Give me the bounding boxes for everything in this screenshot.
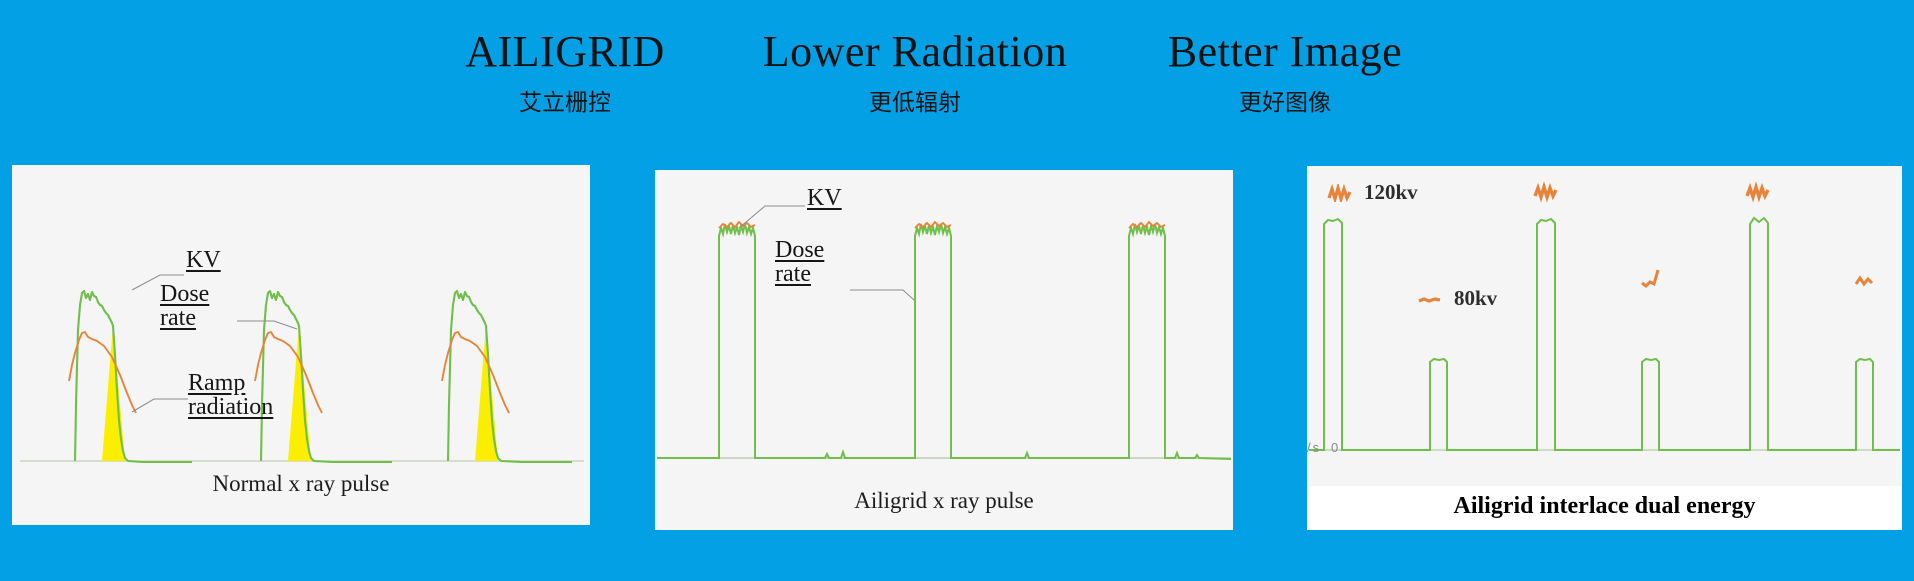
kv-curve-3 — [442, 332, 509, 413]
kv-waveform-icon — [1327, 184, 1353, 202]
headline-en-1: Lower Radiation — [740, 26, 1090, 78]
pulse-120kv-1 — [1309, 219, 1427, 450]
dose-rate-leader-line — [850, 290, 914, 300]
kv-line-icon — [1417, 292, 1443, 306]
headline-en-2: Better Image — [1110, 26, 1460, 78]
pulse-80kv-1 — [1427, 359, 1507, 450]
header: AILIGRID 艾立栅控 Lower Radiation 更低辐射 Bette… — [0, 0, 1914, 165]
headline-cn-1: 更低辐射 — [740, 88, 1090, 118]
pulse-80kv-2 — [1637, 359, 1727, 450]
annotation-dose-rate: Dose rate — [775, 238, 824, 287]
axis-zero-label: 0 — [1331, 440, 1340, 455]
legend-80kv: 80kv — [1417, 286, 1497, 311]
kv-marker-120kv-2 — [1535, 187, 1556, 197]
pulse-120kv-3 — [1727, 218, 1852, 450]
kv-marker-120kv-3 — [1747, 187, 1768, 197]
dose-rate-pulse-2 — [905, 224, 1085, 458]
annotation-kv: KV — [807, 186, 842, 210]
chart-ailigrid-x-ray-pulse — [655, 170, 1233, 490]
dose-rate-pulse-3 — [1085, 224, 1231, 459]
kv-marker-80kv-3 — [1856, 278, 1872, 284]
headline-en-0: AILIGRID — [400, 26, 730, 78]
headline-cn-2: 更好图像 — [1110, 88, 1460, 118]
dose-rate-curve-3 — [448, 291, 572, 462]
panel-caption-normal: Normal x ray pulse — [12, 471, 590, 497]
chart-interlace-dual-energy — [1307, 166, 1902, 486]
dose-rate-curve-2 — [261, 291, 392, 462]
headline-group-1: Lower Radiation 更低辐射 — [740, 26, 1090, 118]
dose-rate-leader-line — [237, 321, 297, 329]
chart-interlace-svg — [1307, 166, 1902, 486]
annotation-ramp-radiation: Ramp radiation — [188, 371, 273, 420]
panel-ailigrid-x-ray-pulse: KV Dose rate Ailigrid x ray pulse — [655, 170, 1233, 530]
ramp-radiation-leader-line — [132, 399, 188, 412]
chart-normal-x-ray-pulse — [12, 165, 590, 495]
axis-unit-label: /s — [1307, 440, 1321, 455]
chart-normal-svg — [12, 165, 590, 495]
annotation-kv: KV — [186, 248, 221, 272]
annotation-dose-rate: Dose rate — [160, 282, 209, 331]
pulse-120kv-2 — [1507, 219, 1637, 450]
legend-120kv-label: 120kv — [1364, 180, 1418, 205]
legend-80kv-label: 80kv — [1454, 286, 1497, 311]
kv-curve-1 — [69, 332, 136, 413]
chart-ailigrid-svg — [655, 170, 1233, 490]
panel-normal-x-ray-pulse: KV Dose rate Ramp radiation Normal x ray… — [12, 165, 590, 525]
panel-caption-ailigrid: Ailigrid x ray pulse — [655, 488, 1233, 514]
legend-120kv: 120kv — [1327, 180, 1418, 205]
headline-group-0: AILIGRID 艾立栅控 — [400, 26, 730, 118]
panel-ailigrid-interlace-dual-energy: 120kv 80kv /s 0 Ailigrid interlace dual … — [1307, 166, 1902, 530]
pulse-80kv-3 — [1852, 359, 1900, 450]
headline-group-2: Better Image 更好图像 — [1110, 26, 1460, 118]
panel-caption-interlace: Ailigrid interlace dual energy — [1307, 493, 1902, 520]
headline-cn-0: 艾立栅控 — [400, 88, 730, 118]
kv-marker-80kv-2 — [1642, 270, 1658, 286]
